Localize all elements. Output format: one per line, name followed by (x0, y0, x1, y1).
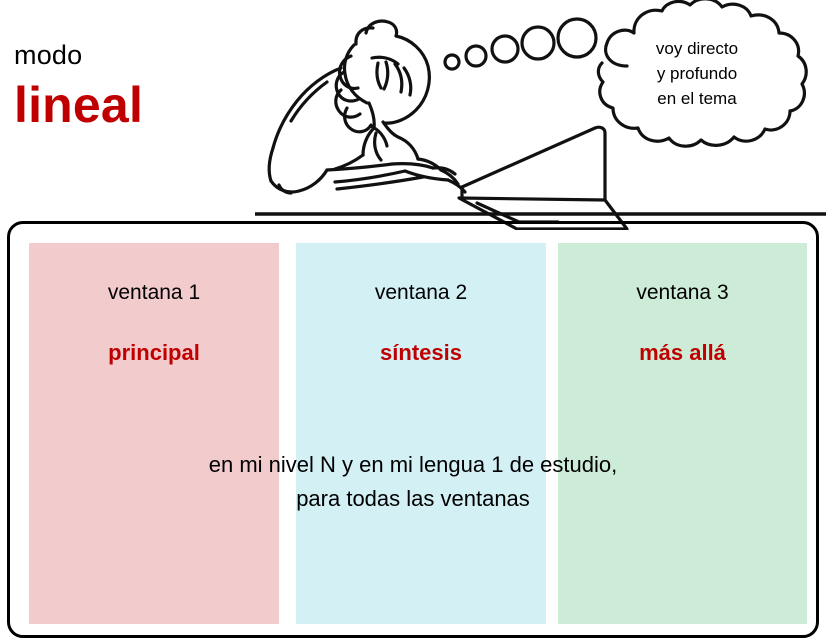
window-panel-2-title: síntesis (296, 340, 546, 366)
window-panel-3-title: más allá (558, 340, 807, 366)
page-title: modo lineal (14, 42, 143, 130)
thought-dot-1 (445, 55, 459, 69)
window-panel-2[interactable]: ventana 2 síntesis (296, 243, 546, 624)
thought-line-1: voy directo (596, 36, 798, 61)
title-eyebrow: modo (14, 42, 143, 69)
panel-group: ventana 1 principal ventana 2 síntesis v… (10, 224, 816, 635)
thought-line-2: y profundo (596, 61, 798, 86)
title-main: lineal (14, 80, 143, 130)
thought-dot-2 (466, 46, 486, 66)
thought-dot-3 (492, 36, 518, 62)
window-panel-2-label: ventana 2 (296, 281, 546, 305)
slide-canvas: modo lineal (0, 0, 826, 644)
window-panel-1-title: principal (29, 340, 279, 366)
illustration-svg (255, 0, 826, 230)
window-panel-3[interactable]: ventana 3 más allá (558, 243, 807, 624)
person-at-laptop-illustration (255, 0, 826, 230)
thought-bubble-text: voy directo y profundo en el tema (596, 36, 798, 111)
thought-dot-5 (558, 19, 596, 57)
thought-dot-4 (522, 27, 554, 59)
window-panel-3-label: ventana 3 (558, 281, 807, 305)
thought-line-3: en el tema (596, 86, 798, 111)
window-panel-1[interactable]: ventana 1 principal (29, 243, 279, 624)
windows-board: ventana 1 principal ventana 2 síntesis v… (7, 221, 819, 638)
window-panel-1-label: ventana 1 (29, 281, 279, 305)
